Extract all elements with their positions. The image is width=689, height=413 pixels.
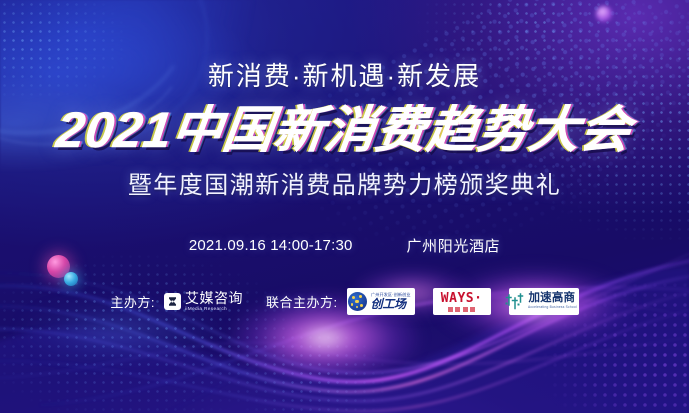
host-label: 主办方: (110, 292, 155, 311)
globe-badge-icon (348, 292, 367, 311)
cohost-logo-chuanggongchang[interactable]: 广州开发区·创新创业 创工场 (347, 288, 415, 315)
ways-name-en: WAYS· (441, 292, 483, 305)
poster-content: 新消费·新机遇·新发展 2021中国新消费趋势大会 暨年度国潮新消费品牌势力榜颁… (0, 0, 689, 413)
sponsors-row: 主办方: 艾媒咨询 iiMedia Research 联合主办方: (110, 288, 578, 315)
iimedia-name-en: iiMedia Research (185, 307, 227, 312)
jiasu-gaoshang-name-en: Accelerating Business School (528, 307, 577, 310)
event-poster: 新消费·新机遇·新发展 2021中国新消费趋势大会 暨年度国潮新消费品牌势力榜颁… (0, 0, 689, 413)
chuanggongchang-text-block: 广州开发区·创新创业 创工场 (371, 293, 414, 311)
jiasu-gaoshang-name-cn: 加速高商 (528, 293, 575, 305)
cohost-label: 联合主办方: (266, 292, 338, 311)
poster-subtitle: 暨年度国潮新消费品牌势力榜颁奖典礼 (128, 174, 562, 198)
iimedia-name-cn: 艾媒咨询 (185, 291, 243, 305)
page-title: 2021中国新消费趋势大会 (54, 105, 634, 155)
poster-tagline: 新消费·新机遇·新发展 (208, 63, 481, 89)
event-meta-row: 2021.09.16 14:00-17:30 广州阳光酒店 (189, 235, 500, 256)
chuanggongchang-top-text: 广州开发区·创新创业 (371, 293, 411, 297)
jiasu-gaoshang-text-block: 加速高商 Accelerating Business School (528, 293, 582, 310)
event-venue: 广州阳光酒店 (407, 235, 501, 256)
iimedia-mark-icon (164, 293, 181, 310)
main-title-wrapper: 2021中国新消费趋势大会 (57, 105, 631, 155)
host-logo-iimedia[interactable]: 艾媒咨询 iiMedia Research (164, 291, 243, 312)
chuanggongchang-name-cn: 创工场 (371, 298, 406, 310)
iimedia-text-block: 艾媒咨询 iiMedia Research (185, 291, 243, 312)
event-datetime: 2021.09.16 14:00-17:30 (189, 237, 353, 254)
ways-blocks-icon (448, 307, 476, 312)
accelerate-arrows-icon (504, 293, 524, 311)
cohost-logo-jiasu-gaoshang[interactable]: 加速高商 Accelerating Business School (509, 288, 579, 315)
cohost-logo-ways[interactable]: WAYS· (433, 288, 491, 315)
